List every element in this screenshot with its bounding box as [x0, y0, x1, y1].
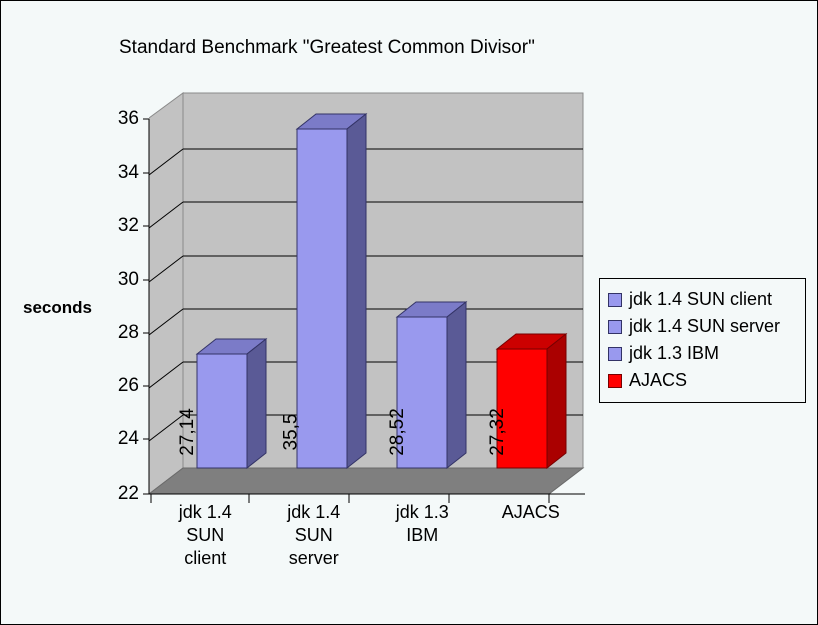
- legend-swatch-icon: [608, 347, 622, 361]
- bar-value-label: 27,14: [177, 408, 199, 456]
- chart-legend: jdk 1.4 SUN client jdk 1.4 SUN server jd…: [599, 278, 806, 403]
- bar-value-label: 35,5: [280, 414, 302, 451]
- legend-label: jdk 1.4 SUN server: [629, 316, 780, 337]
- legend-item[interactable]: jdk 1.4 SUN client: [608, 286, 797, 313]
- chart-frame: Standard Benchmark "Greatest Common Divi…: [0, 0, 818, 625]
- y-tick-label: 26: [95, 375, 139, 397]
- x-category-line: SUN: [260, 524, 369, 547]
- y-tick-label: 22: [95, 483, 139, 505]
- chart-title: Standard Benchmark "Greatest Common Divi…: [119, 37, 535, 59]
- x-category-label: AJACS: [477, 501, 586, 591]
- y-axis-title: seconds: [23, 298, 92, 318]
- y-tick-label: 32: [95, 215, 139, 237]
- x-category-line: AJACS: [477, 501, 586, 524]
- bar-jdk-14-sun-client[interactable]: [197, 339, 266, 468]
- bar-jdk-14-sun-server[interactable]: [297, 114, 366, 468]
- x-category-line: client: [151, 547, 260, 570]
- y-tick-label: 34: [95, 162, 139, 184]
- legend-label: jdk 1.3 IBM: [629, 343, 719, 364]
- y-tick-label: 30: [95, 269, 139, 291]
- legend-label: jdk 1.4 SUN client: [629, 289, 772, 310]
- legend-swatch-icon: [608, 320, 622, 334]
- legend-item[interactable]: AJACS: [608, 367, 797, 394]
- bar-value-label: 27,32: [487, 408, 509, 456]
- legend-swatch-icon: [608, 293, 622, 307]
- x-category-line: jdk 1.4: [151, 501, 260, 524]
- legend-item[interactable]: jdk 1.3 IBM: [608, 340, 797, 367]
- x-axis-labels: jdk 1.4 SUN client jdk 1.4 SUN server jd…: [151, 501, 585, 591]
- y-tick-label: 24: [95, 428, 139, 450]
- plot-floor: [149, 468, 583, 494]
- legend-label: AJACS: [629, 370, 687, 391]
- x-category-label: jdk 1.4 SUN client: [151, 501, 260, 591]
- legend-item[interactable]: jdk 1.4 SUN server: [608, 313, 797, 340]
- x-category-line: IBM: [368, 524, 477, 547]
- y-tick-label: 28: [95, 322, 139, 344]
- bar-value-label: 28,52: [387, 408, 409, 456]
- x-category-line: SUN: [151, 524, 260, 547]
- plot-area: [149, 89, 585, 497]
- x-category-label: jdk 1.3 IBM: [368, 501, 477, 591]
- x-category-line: server: [260, 547, 369, 570]
- y-axis-labels: 36 34 32 30 28 26 24 22: [91, 1, 139, 625]
- x-category-line: jdk 1.4: [260, 501, 369, 524]
- legend-swatch-icon: [608, 374, 622, 388]
- x-category-line: jdk 1.3: [368, 501, 477, 524]
- y-tick-label: 36: [95, 108, 139, 130]
- x-category-label: jdk 1.4 SUN server: [260, 501, 369, 591]
